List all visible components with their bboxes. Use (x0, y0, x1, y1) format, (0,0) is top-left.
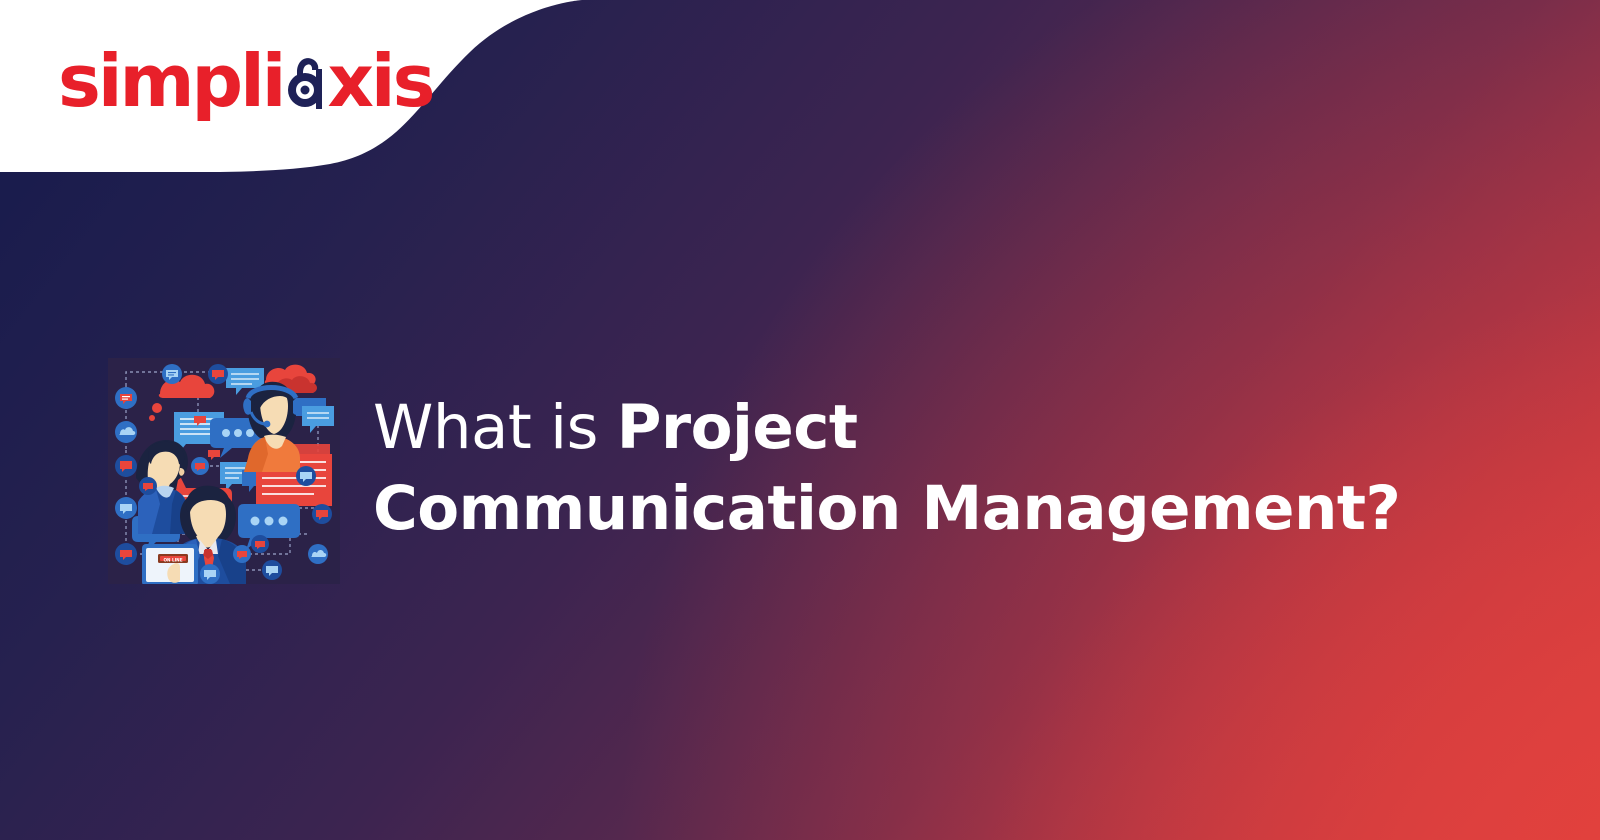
node-icon-chat-red-2 (233, 545, 251, 563)
brand-logo-a-glyph-icon (283, 46, 327, 106)
page-title: What is Project Communication Management… (373, 388, 1493, 549)
node-icon-chat-red-3 (289, 437, 307, 455)
node-icon-chat-top-2 (208, 364, 228, 384)
node-icon-cloud-right (308, 544, 328, 564)
node-icon-chat-right-2 (312, 504, 332, 524)
node-icon-chat-inner-1 (191, 457, 209, 475)
brand-logo-part-2: xis (327, 45, 432, 117)
person-woman-headset (243, 382, 301, 472)
node-icon-speech-bottom-3 (217, 515, 235, 533)
node-icon-chat-inner-2 (251, 535, 269, 553)
node-icon-cloud-left (115, 421, 137, 443)
brand-logo-part-1: simpli (58, 45, 283, 117)
page-title-line-2: Communication Management? (373, 469, 1493, 550)
project-communication-illustration: ON LINE (108, 358, 340, 584)
node-icon-chat-top-1 (162, 364, 182, 384)
node-icon-chat-red-1 (139, 477, 157, 495)
brand-logo[interactable]: simpli xis (58, 38, 478, 124)
node-icon-chat-bottom-2 (262, 560, 282, 580)
node-icon-chat-left-4 (115, 543, 137, 565)
page-title-line-1: What is Project (373, 388, 1493, 469)
tablet-device: ON LINE (142, 544, 198, 584)
node-icon-chat-left-3 (115, 497, 137, 519)
node-icon-chat-right-1 (296, 466, 316, 486)
page-title-bold-part-1: Project (617, 392, 858, 463)
node-icon-chat-left-2 (115, 455, 137, 477)
page-title-light-part: What is (373, 392, 617, 463)
cloud-bubble-dot-large (152, 403, 162, 413)
node-icon-chat-bottom-1 (200, 564, 220, 584)
cloud-bubble-dot-small (149, 415, 155, 421)
tablet-online-label: ON LINE (163, 558, 182, 563)
node-icon-chat-left-1 (115, 387, 137, 409)
brand-logo-text: simpli xis (58, 45, 432, 117)
banner-root: simpli xis (0, 0, 1600, 840)
